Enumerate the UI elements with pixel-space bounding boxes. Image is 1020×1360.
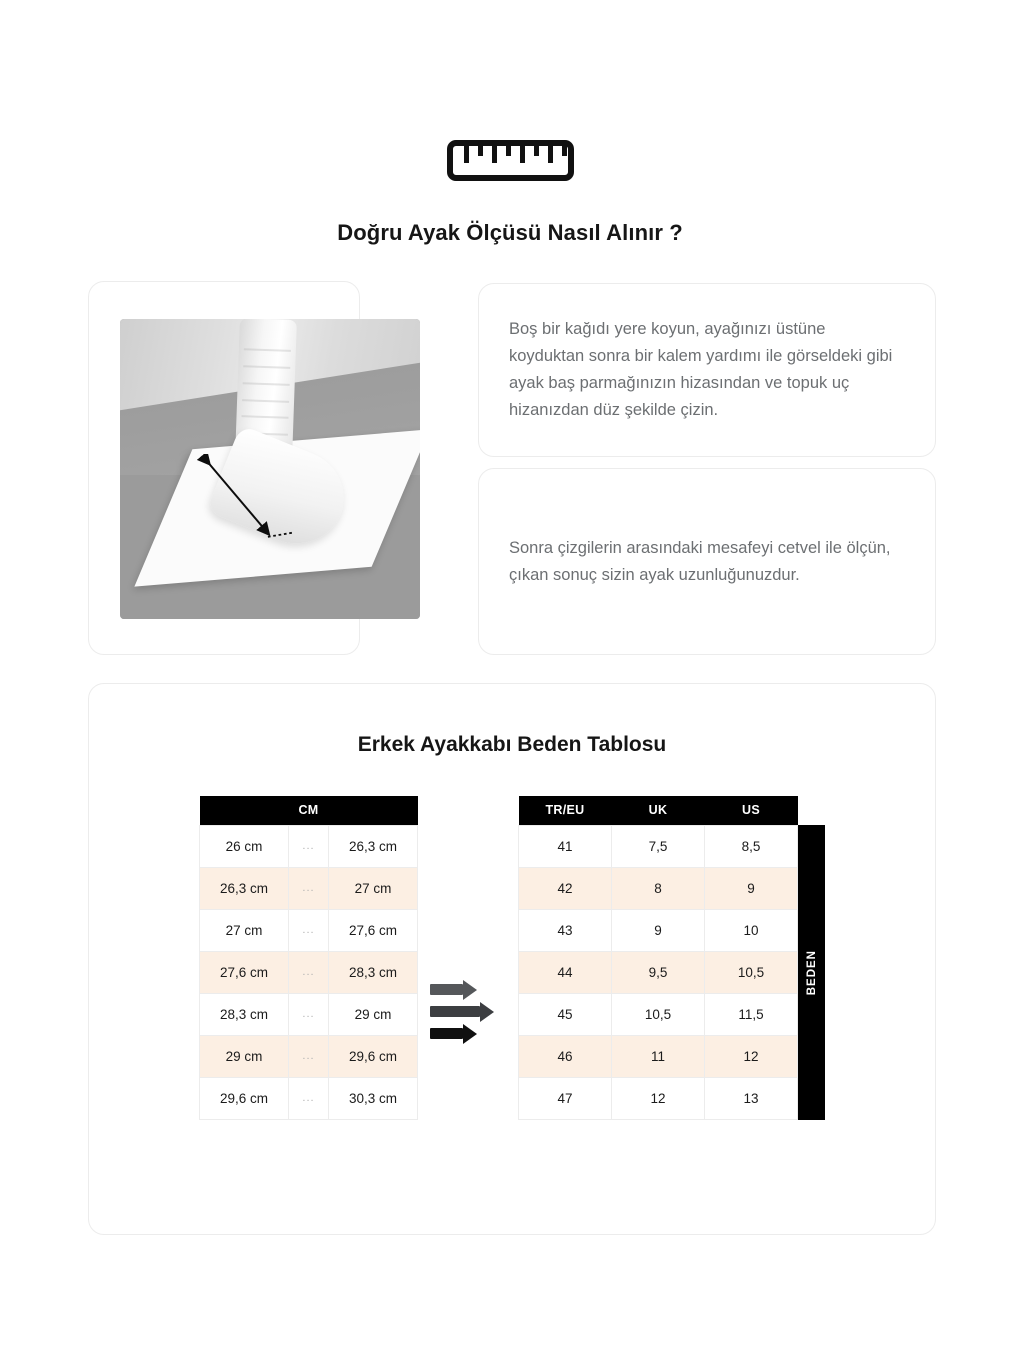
size-uk: 9 bbox=[612, 909, 705, 951]
table-row: 29 cm ... 29,6 cm bbox=[200, 1035, 418, 1077]
size-guide-page: Doğru Ayak Ölçüsü Nasıl Alınır ? bbox=[0, 0, 1020, 1360]
table-row: 45 10,5 11,5 bbox=[519, 993, 798, 1035]
cm-table-header-row: CM bbox=[200, 796, 418, 825]
cm-separator: ... bbox=[289, 951, 329, 993]
size-uk: 11 bbox=[612, 1035, 705, 1077]
size-uk: 7,5 bbox=[612, 825, 705, 867]
cm-from: 28,3 cm bbox=[200, 993, 289, 1035]
table-row: 27 cm ... 27,6 cm bbox=[200, 909, 418, 951]
size-uk: 9,5 bbox=[612, 951, 705, 993]
cm-to: 29,6 cm bbox=[329, 1035, 418, 1077]
table-row: 47 12 13 bbox=[519, 1077, 798, 1119]
instruction-card-1: Boş bir kağıdı yere koyun, ayağınızı üst… bbox=[478, 283, 936, 457]
arrow-short-gray-icon bbox=[430, 982, 477, 997]
table-row: 28,3 cm ... 29 cm bbox=[200, 993, 418, 1035]
size-chart-wrapper: TR/EU UK US 41 7,5 8,5 42 8 bbox=[518, 796, 825, 1120]
size-tr-eu: 44 bbox=[519, 951, 612, 993]
cm-from: 27 cm bbox=[200, 909, 289, 951]
cm-separator: ... bbox=[289, 1077, 329, 1119]
cm-separator: ... bbox=[289, 867, 329, 909]
size-us: 11,5 bbox=[705, 993, 798, 1035]
size-us: 12 bbox=[705, 1035, 798, 1077]
size-us: 10 bbox=[705, 909, 798, 951]
instruction-text-2: Sonra çizgilerin arasındaki mesafeyi cet… bbox=[479, 535, 935, 589]
arrow-short-black-icon bbox=[430, 1026, 477, 1041]
cm-to: 30,3 cm bbox=[329, 1077, 418, 1119]
size-uk: 12 bbox=[612, 1077, 705, 1119]
cm-to: 27,6 cm bbox=[329, 909, 418, 951]
cm-from: 29 cm bbox=[200, 1035, 289, 1077]
size-table-title: Erkek Ayakkabı Beden Tablosu bbox=[89, 733, 935, 757]
size-uk: 8 bbox=[612, 867, 705, 909]
instruction-text-1: Boş bir kağıdı yere koyun, ayağınızı üst… bbox=[479, 316, 935, 424]
beden-side-label: BEDEN bbox=[798, 825, 825, 1120]
arrow-long-dark-icon bbox=[430, 1004, 494, 1019]
table-row: 42 8 9 bbox=[519, 867, 798, 909]
cm-table-body: 26 cm ... 26,3 cm 26,3 cm ... 27 cm 27 c… bbox=[200, 825, 418, 1119]
size-table-header-row: TR/EU UK US bbox=[519, 796, 798, 825]
cm-from: 27,6 cm bbox=[200, 951, 289, 993]
size-header-uk: UK bbox=[612, 796, 705, 825]
cm-separator: ... bbox=[289, 1035, 329, 1077]
foot-measurement-photo bbox=[120, 319, 420, 619]
cm-from: 29,6 cm bbox=[200, 1077, 289, 1119]
cm-separator: ... bbox=[289, 993, 329, 1035]
size-us: 13 bbox=[705, 1077, 798, 1119]
size-tr-eu: 42 bbox=[519, 867, 612, 909]
conversion-arrows bbox=[418, 982, 518, 1041]
cm-to: 26,3 cm bbox=[329, 825, 418, 867]
cm-to: 29 cm bbox=[329, 993, 418, 1035]
table-row: 26,3 cm ... 27 cm bbox=[200, 867, 418, 909]
table-row: 26 cm ... 26,3 cm bbox=[200, 825, 418, 867]
size-tr-eu: 46 bbox=[519, 1035, 612, 1077]
cm-to: 27 cm bbox=[329, 867, 418, 909]
size-table-card: Erkek Ayakkabı Beden Tablosu CM 26 cm ..… bbox=[88, 683, 936, 1235]
size-table-body: 41 7,5 8,5 42 8 9 43 9 10 bbox=[519, 825, 798, 1119]
measurement-arrow-icon bbox=[195, 454, 294, 544]
table-row: 27,6 cm ... 28,3 cm bbox=[200, 951, 418, 993]
cm-separator: ... bbox=[289, 825, 329, 867]
table-row: 41 7,5 8,5 bbox=[519, 825, 798, 867]
size-us: 9 bbox=[705, 867, 798, 909]
cm-separator: ... bbox=[289, 909, 329, 951]
cm-table-header: CM bbox=[200, 796, 418, 825]
size-header-us: US bbox=[705, 796, 798, 825]
size-us: 10,5 bbox=[705, 951, 798, 993]
cm-from: 26 cm bbox=[200, 825, 289, 867]
size-us: 8,5 bbox=[705, 825, 798, 867]
table-row: 44 9,5 10,5 bbox=[519, 951, 798, 993]
size-tr-eu: 47 bbox=[519, 1077, 612, 1119]
size-uk: 10,5 bbox=[612, 993, 705, 1035]
cm-range-table: CM 26 cm ... 26,3 cm 26,3 cm ... 27 cm bbox=[199, 796, 418, 1120]
size-tr-eu: 43 bbox=[519, 909, 612, 951]
size-tables-row: CM 26 cm ... 26,3 cm 26,3 cm ... 27 cm bbox=[89, 796, 935, 1120]
foot-photo-card bbox=[88, 281, 360, 655]
cm-to: 28,3 cm bbox=[329, 951, 418, 993]
table-row: 43 9 10 bbox=[519, 909, 798, 951]
table-row: 46 11 12 bbox=[519, 1035, 798, 1077]
cm-from: 26,3 cm bbox=[200, 867, 289, 909]
table-row: 29,6 cm ... 30,3 cm bbox=[200, 1077, 418, 1119]
page-title: Doğru Ayak Ölçüsü Nasıl Alınır ? bbox=[0, 220, 1020, 246]
beden-label-text: BEDEN bbox=[806, 950, 818, 995]
instruction-card-2: Sonra çizgilerin arasındaki mesafeyi cet… bbox=[478, 468, 936, 655]
size-tr-eu: 45 bbox=[519, 993, 612, 1035]
ruler-icon bbox=[447, 140, 574, 181]
size-tr-eu: 41 bbox=[519, 825, 612, 867]
size-header-tr-eu: TR/EU bbox=[519, 796, 612, 825]
shoe-size-table: TR/EU UK US 41 7,5 8,5 42 8 bbox=[518, 796, 798, 1120]
ruler-icon-container bbox=[0, 140, 1020, 181]
